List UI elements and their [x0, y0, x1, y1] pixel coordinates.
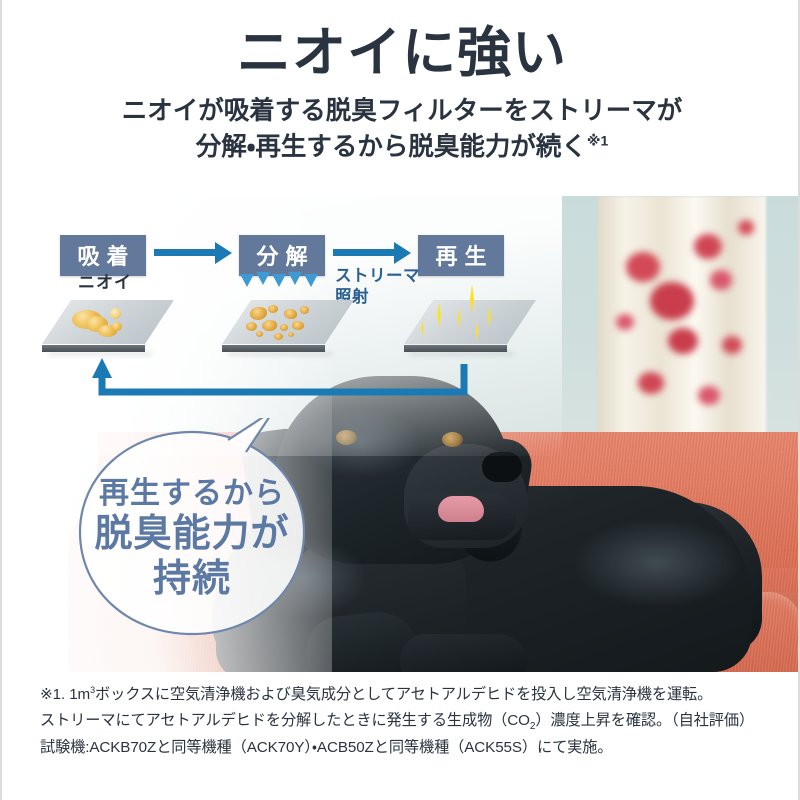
- streamer-label-line-1: ストリーマ: [335, 266, 420, 287]
- streamer-arrow-icon: [240, 274, 254, 287]
- callout-line-3: 持続: [60, 557, 324, 602]
- footnote-2-a: ストリーマにてアセトアルデヒドを分解したときに発生する生成物（CO: [40, 712, 530, 729]
- headline-block: ニオイに強い ニオイが吸着する脱臭フィルターをストリーマが 分解・再生するから脱…: [2, 24, 800, 165]
- callout-bubble: 再生するから 脱臭能力が 持続: [60, 418, 340, 650]
- flow-arrow-2-icon: [333, 242, 411, 264]
- page-title: ニオイに強い: [2, 24, 800, 82]
- footnote-line-3: 試験機:ACKB70Zと同等機種（ACK70Y）・ACB50Zと同等機種（ACK…: [40, 735, 780, 761]
- flow-arrow-1-icon: [154, 242, 232, 264]
- subheadline-line-1: ニオイが吸着する脱臭フィルターをストリーマが: [2, 94, 800, 129]
- callout-line-1: 再生するから: [60, 476, 324, 512]
- streamer-arrow-icon: [256, 272, 270, 285]
- subheadline-line-2-text: 分解・再生するから脱臭能力が続く: [196, 133, 587, 161]
- callout-line-2: 脱臭能力が: [60, 512, 324, 557]
- subheadline-line-2: 分解・再生するから脱臭能力が続く※1: [2, 130, 800, 165]
- footnote-marker: ※1: [587, 132, 608, 148]
- footnote-2-b: ）濃度上昇を確認。（自社評価）: [535, 712, 754, 729]
- filter-plate-decomposition: [222, 300, 354, 356]
- footnote-line-1: ※1. 1m3ボックスに空気清浄機および臭気成分としてアセトアルデヒドを投入し空…: [40, 682, 780, 708]
- stage-label-regeneration: 再生: [418, 235, 504, 276]
- stage-label-decomposition: 分解: [239, 235, 325, 276]
- streamer-arrow-icon: [304, 274, 318, 287]
- filter-plate-regeneration: [404, 300, 536, 356]
- odor-caption: ニオイ: [62, 268, 148, 293]
- streamer-arrow-icon: [288, 272, 302, 285]
- streamer-arrow-icon: [272, 274, 286, 287]
- deodorization-process-diagram: 吸着 分解 再生 ニオイ ストリーマ 照射: [2, 196, 800, 426]
- subheadline: ニオイが吸着する脱臭フィルターをストリーマが 分解・再生するから脱臭能力が続く※…: [2, 94, 800, 164]
- footnotes: ※1. 1m3ボックスに空気清浄機および臭気成分としてアセトアルデヒドを投入し空…: [40, 682, 780, 762]
- product-feature-panel: ニオイに強い ニオイが吸着する脱臭フィルターをストリーマが 分解・再生するから脱…: [0, 0, 800, 800]
- footnote-1-prefix: ※1. 1m: [40, 686, 90, 703]
- footnote-line-2: ストリーマにてアセトアルデヒドを分解したときに発生する生成物（CO2）濃度上昇を…: [40, 708, 780, 735]
- footnote-1-rest: ボックスに空気清浄機および臭気成分としてアセトアルデヒドを投入し空気清浄機を運転…: [95, 686, 712, 703]
- filter-plate-adsorption: [42, 300, 174, 356]
- callout-bubble-text: 再生するから 脱臭能力が 持続: [60, 476, 324, 602]
